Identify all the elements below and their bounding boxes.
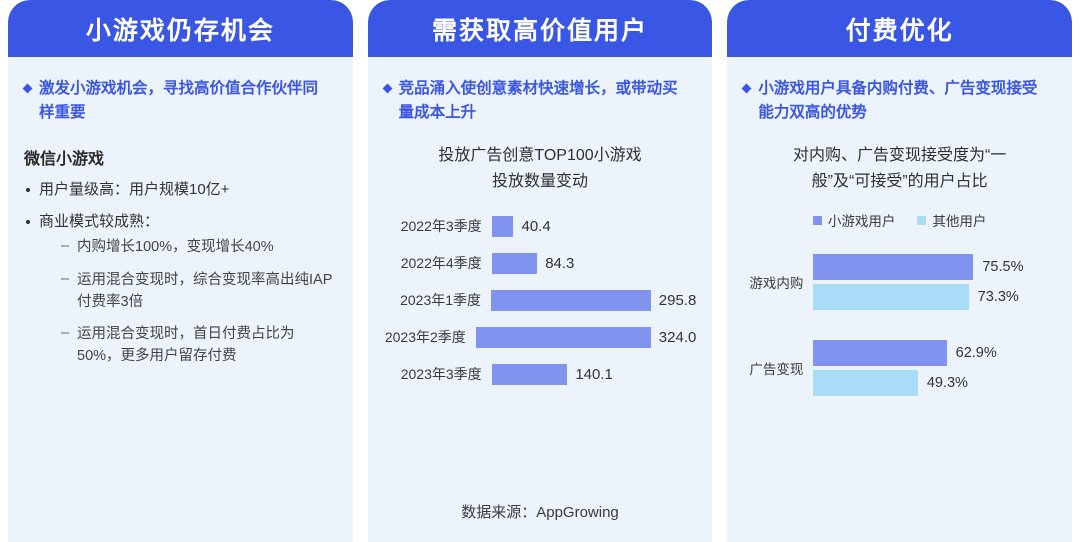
bar-segment xyxy=(492,216,514,237)
bar-segment xyxy=(492,253,538,274)
card-header-1: 小游戏仍存机会 xyxy=(8,0,353,57)
chart-title-line-1: 投放广告创意TOP100小游戏 xyxy=(384,143,697,169)
table-row: 2022年3季度 40.4 xyxy=(384,208,697,244)
bar-value-label: 40.4 xyxy=(521,218,550,235)
bar-category-label: 2022年4季度 xyxy=(384,253,492,273)
diamond-bullet-icon xyxy=(23,84,33,94)
card-high-value-users: 需获取高价值用户 竞品涌入使创意素材快速增长，或带动买量成本上升 投放广告创意T… xyxy=(368,0,713,542)
card-payment-optimization: 付费优化 小游戏用户具备内购付费、广告变现接受能力双高的优势 对内购、广告变现接… xyxy=(727,0,1072,542)
bar-chart-ad-creatives: 2022年3季度 40.4 2022年4季度 84.3 2023年1季度 xyxy=(384,208,697,392)
lead-text-2: 竞品涌入使创意素材快速增长，或带动买量成本上升 xyxy=(399,77,693,125)
lead-bullet-2: 竞品涌入使创意素材快速增长，或带动买量成本上升 xyxy=(384,77,697,125)
bar-group-bars: 75.5% 73.3% xyxy=(813,252,1056,312)
card-title-1: 小游戏仍存机会 xyxy=(86,11,275,47)
diamond-bullet-icon xyxy=(742,84,752,94)
grouped-bar-chart-acceptance: 游戏内购 75.5% 73.3% 广告变现 xyxy=(743,252,1056,398)
legend-item-minigame-users: 小游戏用户 xyxy=(813,210,896,230)
legend-swatch-icon xyxy=(917,216,926,225)
table-row: 2022年4季度 84.3 xyxy=(384,245,697,281)
diamond-bullet-icon xyxy=(382,84,392,94)
chart-title-line-2: 般”及“可接受”的用户占比 xyxy=(743,169,1056,195)
chart-title-line-1: 对内购、广告变现接受度为“一 xyxy=(743,143,1056,169)
bar-value-label: 75.5% xyxy=(982,259,1023,275)
bar-segment xyxy=(491,290,651,311)
legend-item-other-users: 其他用户 xyxy=(917,210,986,230)
sub-bullet-text: 运用混合变现时，综合变现率高出纯IAP付费率3倍 xyxy=(77,272,332,310)
bar-group-label: 游戏内购 xyxy=(743,272,813,292)
legend-swatch-icon xyxy=(813,216,822,225)
table-row: 75.5% xyxy=(813,252,1056,282)
card-body-3: 小游戏用户具备内购付费、广告变现接受能力双高的优势 对内购、广告变现接受度为“一… xyxy=(727,57,1072,542)
bar-segment xyxy=(813,340,946,366)
list-item: 商业模式较成熟： 内购增长100%，变现增长40% 运用混合变现时，综合变现率高… xyxy=(24,211,337,368)
bar-segment xyxy=(476,327,651,348)
bar-group: 游戏内购 75.5% 73.3% xyxy=(743,252,1056,312)
legend-label: 其他用户 xyxy=(932,210,986,230)
bar-segment xyxy=(492,364,568,385)
bar-track: 40.4 xyxy=(492,216,697,237)
subhead-wechat-minigame: 微信小游戏 xyxy=(24,145,337,169)
list-item: 用户量级高：用户规模10亿+ xyxy=(24,179,337,202)
table-row: 2023年1季度 295.8 xyxy=(384,282,697,318)
bar-category-label: 2023年2季度 xyxy=(384,327,476,347)
bar-category-label: 2023年1季度 xyxy=(384,290,491,310)
chart-title-3: 对内购、广告变现接受度为“一 般”及“可接受”的用户占比 xyxy=(743,143,1056,194)
bullet-text: 用户量级高：用户规模10亿+ xyxy=(39,181,229,198)
card-opportunity: 小游戏仍存机会 激发小游戏机会，寻找高价值合作伙伴同样重要 微信小游戏 用户量级… xyxy=(8,0,353,542)
sub-bullet-list: 内购增长100%，变现增长40% 运用混合变现时，综合变现率高出纯IAP付费率3… xyxy=(61,237,337,368)
bar-value-label: 84.3 xyxy=(545,255,574,272)
card-header-2: 需获取高价值用户 xyxy=(368,0,713,57)
bar-category-label: 2023年3季度 xyxy=(384,364,492,384)
bar-segment xyxy=(813,284,968,310)
lead-text-1: 激发小游戏机会，寻找高价值合作伙伴同样重要 xyxy=(39,77,333,125)
bar-value-label: 324.0 xyxy=(659,329,697,346)
bar-track: 295.8 xyxy=(491,290,696,311)
bar-segment xyxy=(813,254,973,280)
card-header-3: 付费优化 xyxy=(727,0,1072,57)
bar-value-label: 49.3% xyxy=(927,375,968,391)
lead-bullet-3: 小游戏用户具备内购付费、广告变现接受能力双高的优势 xyxy=(743,77,1056,125)
infographic-board: 小游戏仍存机会 激发小游戏机会，寻找高价值合作伙伴同样重要 微信小游戏 用户量级… xyxy=(0,0,1080,542)
bar-value-label: 140.1 xyxy=(575,366,613,383)
sub-bullet-text: 运用混合变现时，首日付费占比为50%，更多用户留存付费 xyxy=(77,326,295,364)
chart-source-note: 数据来源：AppGrowing xyxy=(368,501,713,522)
table-row: 62.9% xyxy=(813,338,1056,368)
bullet-text: 商业模式较成熟： xyxy=(39,213,159,230)
chart-title-line-2: 投放数量变动 xyxy=(384,169,697,195)
lead-text-3: 小游戏用户具备内购付费、广告变现接受能力双高的优势 xyxy=(758,77,1052,125)
bar-group-label: 广告变现 xyxy=(743,358,813,378)
bar-track: 84.3 xyxy=(492,253,697,274)
chart-title-2: 投放广告创意TOP100小游戏 投放数量变动 xyxy=(384,143,697,194)
table-row: 2023年3季度 140.1 xyxy=(384,356,697,392)
card-body-2: 竞品涌入使创意素材快速增长，或带动买量成本上升 投放广告创意TOP100小游戏 … xyxy=(368,57,713,542)
bar-segment xyxy=(813,370,917,396)
card-body-1: 激发小游戏机会，寻找高价值合作伙伴同样重要 微信小游戏 用户量级高：用户规模10… xyxy=(8,57,353,542)
bar-category-label: 2022年3季度 xyxy=(384,216,492,236)
sub-list-item: 内购增长100%，变现增长40% xyxy=(61,237,337,259)
bar-group: 广告变现 62.9% 49.3% xyxy=(743,338,1056,398)
bar-value-label: 73.3% xyxy=(978,289,1019,305)
table-row: 49.3% xyxy=(813,368,1056,398)
lead-bullet-1: 激发小游戏机会，寻找高价值合作伙伴同样重要 xyxy=(24,77,337,125)
card-title-2: 需获取高价值用户 xyxy=(432,11,648,47)
table-row: 2023年2季度 324.0 xyxy=(384,319,697,355)
sub-list-item: 运用混合变现时，首日付费占比为50%，更多用户留存付费 xyxy=(61,324,337,368)
table-row: 73.3% xyxy=(813,282,1056,312)
card-title-3: 付费优化 xyxy=(846,11,954,47)
legend-label: 小游戏用户 xyxy=(828,210,896,230)
sub-list-item: 运用混合变现时，综合变现率高出纯IAP付费率3倍 xyxy=(61,270,337,314)
bar-track: 140.1 xyxy=(492,364,697,385)
bullet-list-1: 用户量级高：用户规模10亿+ 商业模式较成熟： 内购增长100%，变现增长40%… xyxy=(24,179,337,368)
bar-value-label: 295.8 xyxy=(659,292,697,309)
bar-group-bars: 62.9% 49.3% xyxy=(813,338,1056,398)
bar-track: 324.0 xyxy=(476,327,697,348)
chart-legend: 小游戏用户 其他用户 xyxy=(743,210,1056,230)
sub-bullet-text: 内购增长100%，变现增长40% xyxy=(77,239,274,255)
bar-value-label: 62.9% xyxy=(956,345,997,361)
